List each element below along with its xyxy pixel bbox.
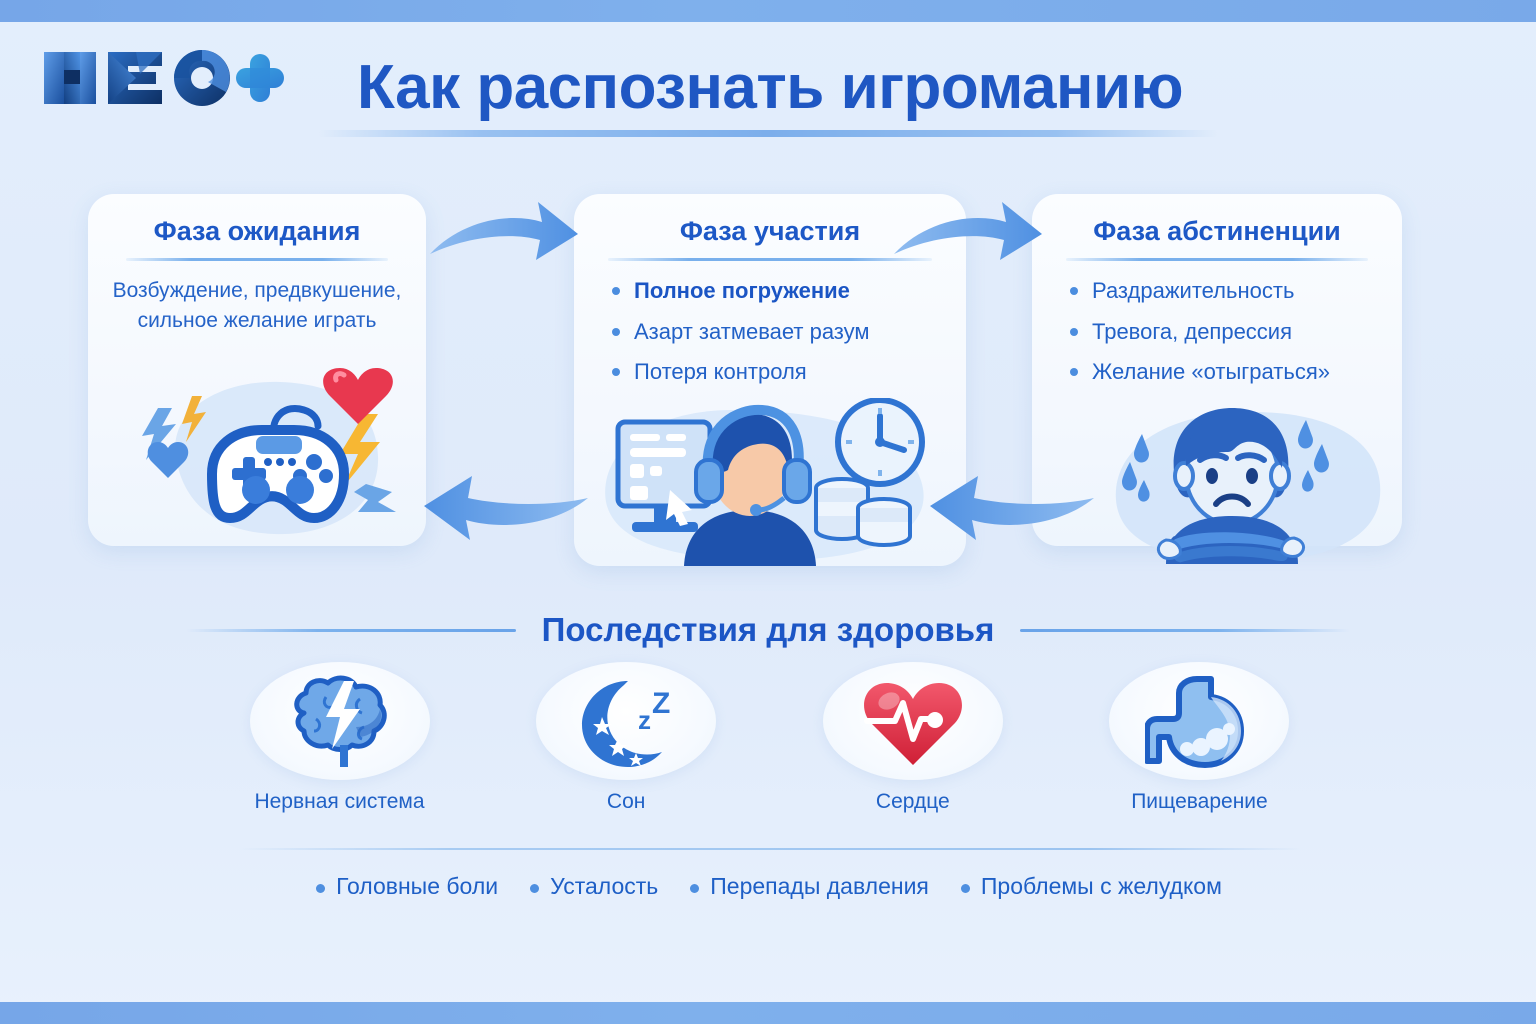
health-icons-row: Нервная система z Z Сон	[232, 662, 1307, 834]
svg-text:z: z	[638, 705, 651, 735]
brain-lightning-icon	[286, 673, 394, 769]
moon-zzz-icon: z Z	[572, 673, 680, 769]
health-item-sleep[interactable]: z Z Сон	[519, 662, 734, 834]
list-item: Тревога, депрессия	[1066, 317, 1384, 347]
symptom-item: Усталость	[528, 873, 658, 900]
card-divider	[608, 258, 932, 261]
phase-title: Фаза абстиненции	[1032, 216, 1402, 247]
gamer-monitor-clock-coins-icon	[592, 398, 942, 566]
arrow-left-curved-icon	[404, 468, 594, 548]
heart-pulse-icon	[859, 673, 967, 769]
consequences-header: Последствия для здоровья	[0, 606, 1536, 654]
svg-text:Z: Z	[652, 687, 670, 720]
phase-bullet-list: Раздражительность Тревога, депрессия Жел…	[1066, 276, 1384, 398]
phase-bullet-list: Полное погружение Азарт затмевает разум …	[608, 276, 948, 398]
health-label: Пищеварение	[1131, 790, 1268, 814]
phase-description: Возбуждение, предвкушение, сильное желан…	[102, 276, 412, 337]
section-title: Последствия для здоровья	[542, 611, 995, 649]
list-item: Желание «отыграться»	[1066, 357, 1384, 387]
card-divider	[126, 258, 388, 261]
arrow-left-curved-icon	[910, 468, 1100, 548]
card-divider	[1066, 258, 1368, 261]
symptoms-row: Головные боли Усталость Перепады давлени…	[0, 866, 1536, 906]
symptom-item: Перепады давления	[688, 873, 929, 900]
sad-person-sweat-icon	[1108, 404, 1398, 564]
health-label: Сон	[607, 790, 645, 814]
divider-right	[1020, 629, 1350, 632]
icon-bubble	[823, 662, 1003, 780]
bottom-edge-bar	[0, 1002, 1536, 1024]
stomach-icon	[1145, 673, 1253, 769]
page-title: Как распознать игроманию	[350, 46, 1190, 130]
health-item-digestion[interactable]: Пищеварение	[1092, 662, 1307, 834]
health-item-nervous-system[interactable]: Нервная система	[232, 662, 447, 834]
title-underline	[318, 130, 1218, 137]
phase-title: Фаза ожидания	[88, 216, 426, 247]
arrow-right-curved-icon	[424, 196, 584, 276]
health-item-heart[interactable]: Сердце	[805, 662, 1020, 834]
list-item: Потеря контроля	[608, 357, 948, 387]
list-item: Раздражительность	[1066, 276, 1384, 306]
gamepad-heart-lightning-icon	[128, 366, 428, 546]
bottom-divider	[238, 848, 1303, 850]
symptom-item: Проблемы с желудком	[959, 873, 1222, 900]
icon-bubble	[250, 662, 430, 780]
top-edge-bar	[0, 0, 1536, 22]
list-item: Азарт затмевает разум	[608, 317, 948, 347]
list-item: Полное погружение	[608, 276, 948, 306]
symptom-item: Головные боли	[314, 873, 498, 900]
icon-bubble: z Z	[536, 662, 716, 780]
icon-bubble	[1109, 662, 1289, 780]
health-label: Сердце	[876, 790, 950, 814]
divider-left	[186, 629, 516, 632]
health-label: Нервная система	[254, 790, 424, 814]
arrow-right-curved-icon	[888, 196, 1048, 276]
brand-logo	[36, 42, 296, 114]
infographic-canvas: Как распознать игроманию Фаза ожидания В…	[0, 0, 1536, 1024]
